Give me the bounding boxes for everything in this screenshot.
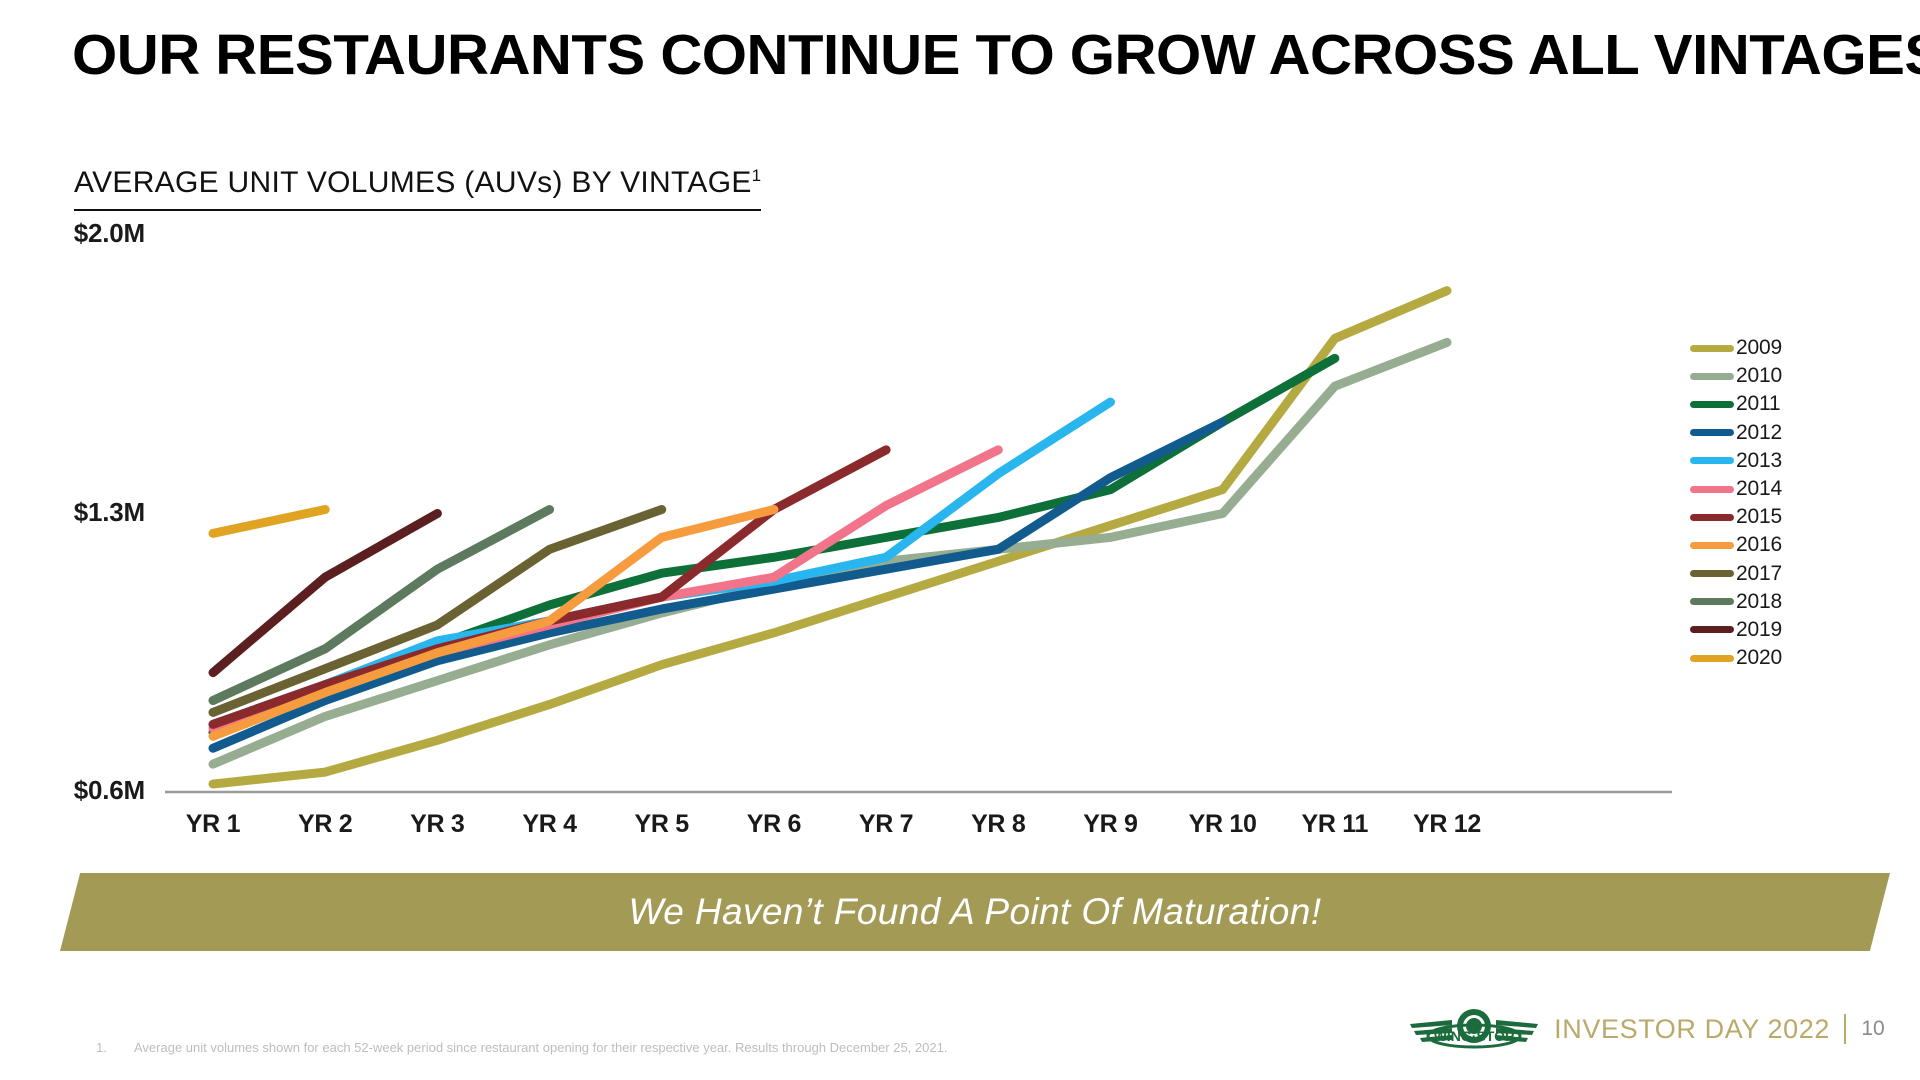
legend-item-2018[interactable]: 2018 — [1690, 588, 1890, 616]
chart-line-2010 — [213, 342, 1447, 764]
legend-swatch-icon-2016 — [1690, 542, 1734, 549]
x-axis-tick-yr2: YR 2 — [265, 810, 385, 839]
chart-line-2019 — [213, 514, 437, 673]
chart-line-2017 — [213, 510, 662, 713]
legend-label-2010: 2010 — [1736, 364, 1782, 388]
legend-swatch-icon-2010 — [1690, 373, 1734, 380]
legend-label-2016: 2016 — [1736, 533, 1782, 557]
y-axis-tick-20M: $2.0M — [35, 218, 145, 249]
legend-item-2013[interactable]: 2013 — [1690, 447, 1890, 475]
legend-label-2014: 2014 — [1736, 477, 1782, 501]
legend-swatch-icon-2009 — [1690, 345, 1734, 352]
legend-swatch-icon-2019 — [1690, 626, 1734, 633]
x-axis-tick-yr8: YR 8 — [938, 810, 1058, 839]
legend-item-2017[interactable]: 2017 — [1690, 560, 1890, 588]
footnote-text: Average unit volumes shown for each 52-w… — [134, 1040, 947, 1055]
svg-text:WING·STOP: WING·STOP — [1434, 1028, 1515, 1044]
legend-label-2017: 2017 — [1736, 562, 1782, 586]
x-axis-tick-yr10: YR 10 — [1163, 810, 1283, 839]
legend-label-2015: 2015 — [1736, 505, 1782, 529]
x-axis-tick-yr4: YR 4 — [490, 810, 610, 839]
legend-label-2011: 2011 — [1736, 392, 1780, 416]
chart-subtitle: AVERAGE UNIT VOLUMES (AUVs) BY VINTAGE1 — [74, 166, 761, 211]
chart-line-2020 — [213, 510, 325, 534]
legend-item-2020[interactable]: 2020 — [1690, 644, 1890, 672]
legend-item-2010[interactable]: 2010 — [1690, 362, 1890, 390]
footnote-number: 1. — [96, 1040, 106, 1055]
chart-subtitle-text: AVERAGE UNIT VOLUMES (AUVs) BY VINTAGE — [74, 166, 752, 199]
legend-swatch-icon-2011 — [1690, 401, 1734, 408]
x-axis-tick-yr12: YR 12 — [1387, 810, 1507, 839]
chart-legend: 2009201020112012201320142015201620172018… — [1690, 334, 1890, 672]
chart-line-2016 — [213, 510, 774, 737]
legend-item-2011[interactable]: 2011 — [1690, 390, 1890, 418]
x-axis-tick-yr3: YR 3 — [377, 810, 497, 839]
legend-swatch-icon-2014 — [1690, 486, 1734, 493]
investor-day-label: INVESTOR DAY 2022 — [1554, 1014, 1830, 1045]
legend-swatch-icon-2015 — [1690, 514, 1734, 521]
footnote: 1. Average unit volumes shown for each 5… — [96, 1040, 947, 1055]
legend-label-2018: 2018 — [1736, 590, 1782, 614]
legend-label-2012: 2012 — [1736, 421, 1782, 445]
legend-swatch-icon-2020 — [1690, 655, 1734, 662]
legend-item-2016[interactable]: 2016 — [1690, 531, 1890, 559]
x-axis-tick-yr7: YR 7 — [826, 810, 946, 839]
y-axis-tick-06M: $0.6M — [35, 775, 145, 806]
callout-banner: We Haven’t Found A Point Of Maturation! — [60, 873, 1890, 951]
legend-item-2012[interactable]: 2012 — [1690, 419, 1890, 447]
legend-label-2009: 2009 — [1736, 336, 1782, 360]
chart-line-2013 — [213, 402, 1110, 724]
x-axis-tick-yr9: YR 9 — [1050, 810, 1170, 839]
legend-swatch-icon-2018 — [1690, 598, 1734, 605]
x-axis-tick-yr1: YR 1 — [153, 810, 273, 839]
legend-item-2019[interactable]: 2019 — [1690, 616, 1890, 644]
legend-item-2009[interactable]: 2009 — [1690, 334, 1890, 362]
chart-line-2018 — [213, 510, 550, 701]
footer-divider — [1844, 1014, 1846, 1044]
legend-label-2020: 2020 — [1736, 646, 1782, 670]
chart-line-2009 — [213, 291, 1447, 784]
x-axis-tick-yr6: YR 6 — [714, 810, 834, 839]
x-axis-tick-yr11: YR 11 — [1275, 810, 1395, 839]
chart-line-2012 — [213, 422, 1223, 748]
page-title: OUR RESTAURANTS CONTINUE TO GROW ACROSS … — [72, 22, 1908, 88]
wingstop-logo-icon: WING·STOP — [1408, 1000, 1540, 1058]
legend-item-2015[interactable]: 2015 — [1690, 503, 1890, 531]
page-number: 10 — [1860, 1017, 1886, 1041]
x-axis-tick-yr5: YR 5 — [602, 810, 722, 839]
chart-line-2015 — [213, 450, 886, 725]
chart-subtitle-footnote-marker: 1 — [752, 166, 762, 185]
banner-text: We Haven’t Found A Point Of Maturation! — [60, 873, 1890, 951]
slide-root: OUR RESTAURANTS CONTINUE TO GROW ACROSS … — [0, 0, 1920, 1080]
legend-swatch-icon-2017 — [1690, 570, 1734, 577]
legend-label-2013: 2013 — [1736, 449, 1782, 473]
chart-series-group — [213, 291, 1447, 784]
chart-subtitle-container: AVERAGE UNIT VOLUMES (AUVs) BY VINTAGE1 — [74, 166, 761, 211]
footer: WING·STOP INVESTOR DAY 2022 10 — [1408, 1000, 1886, 1058]
legend-item-2014[interactable]: 2014 — [1690, 475, 1890, 503]
chart-line-2014 — [213, 450, 998, 728]
legend-label-2019: 2019 — [1736, 618, 1782, 642]
legend-swatch-icon-2012 — [1690, 429, 1734, 436]
y-axis-tick-13M: $1.3M — [35, 497, 145, 528]
chart-line-2011 — [213, 358, 1335, 732]
legend-swatch-icon-2013 — [1690, 457, 1734, 464]
